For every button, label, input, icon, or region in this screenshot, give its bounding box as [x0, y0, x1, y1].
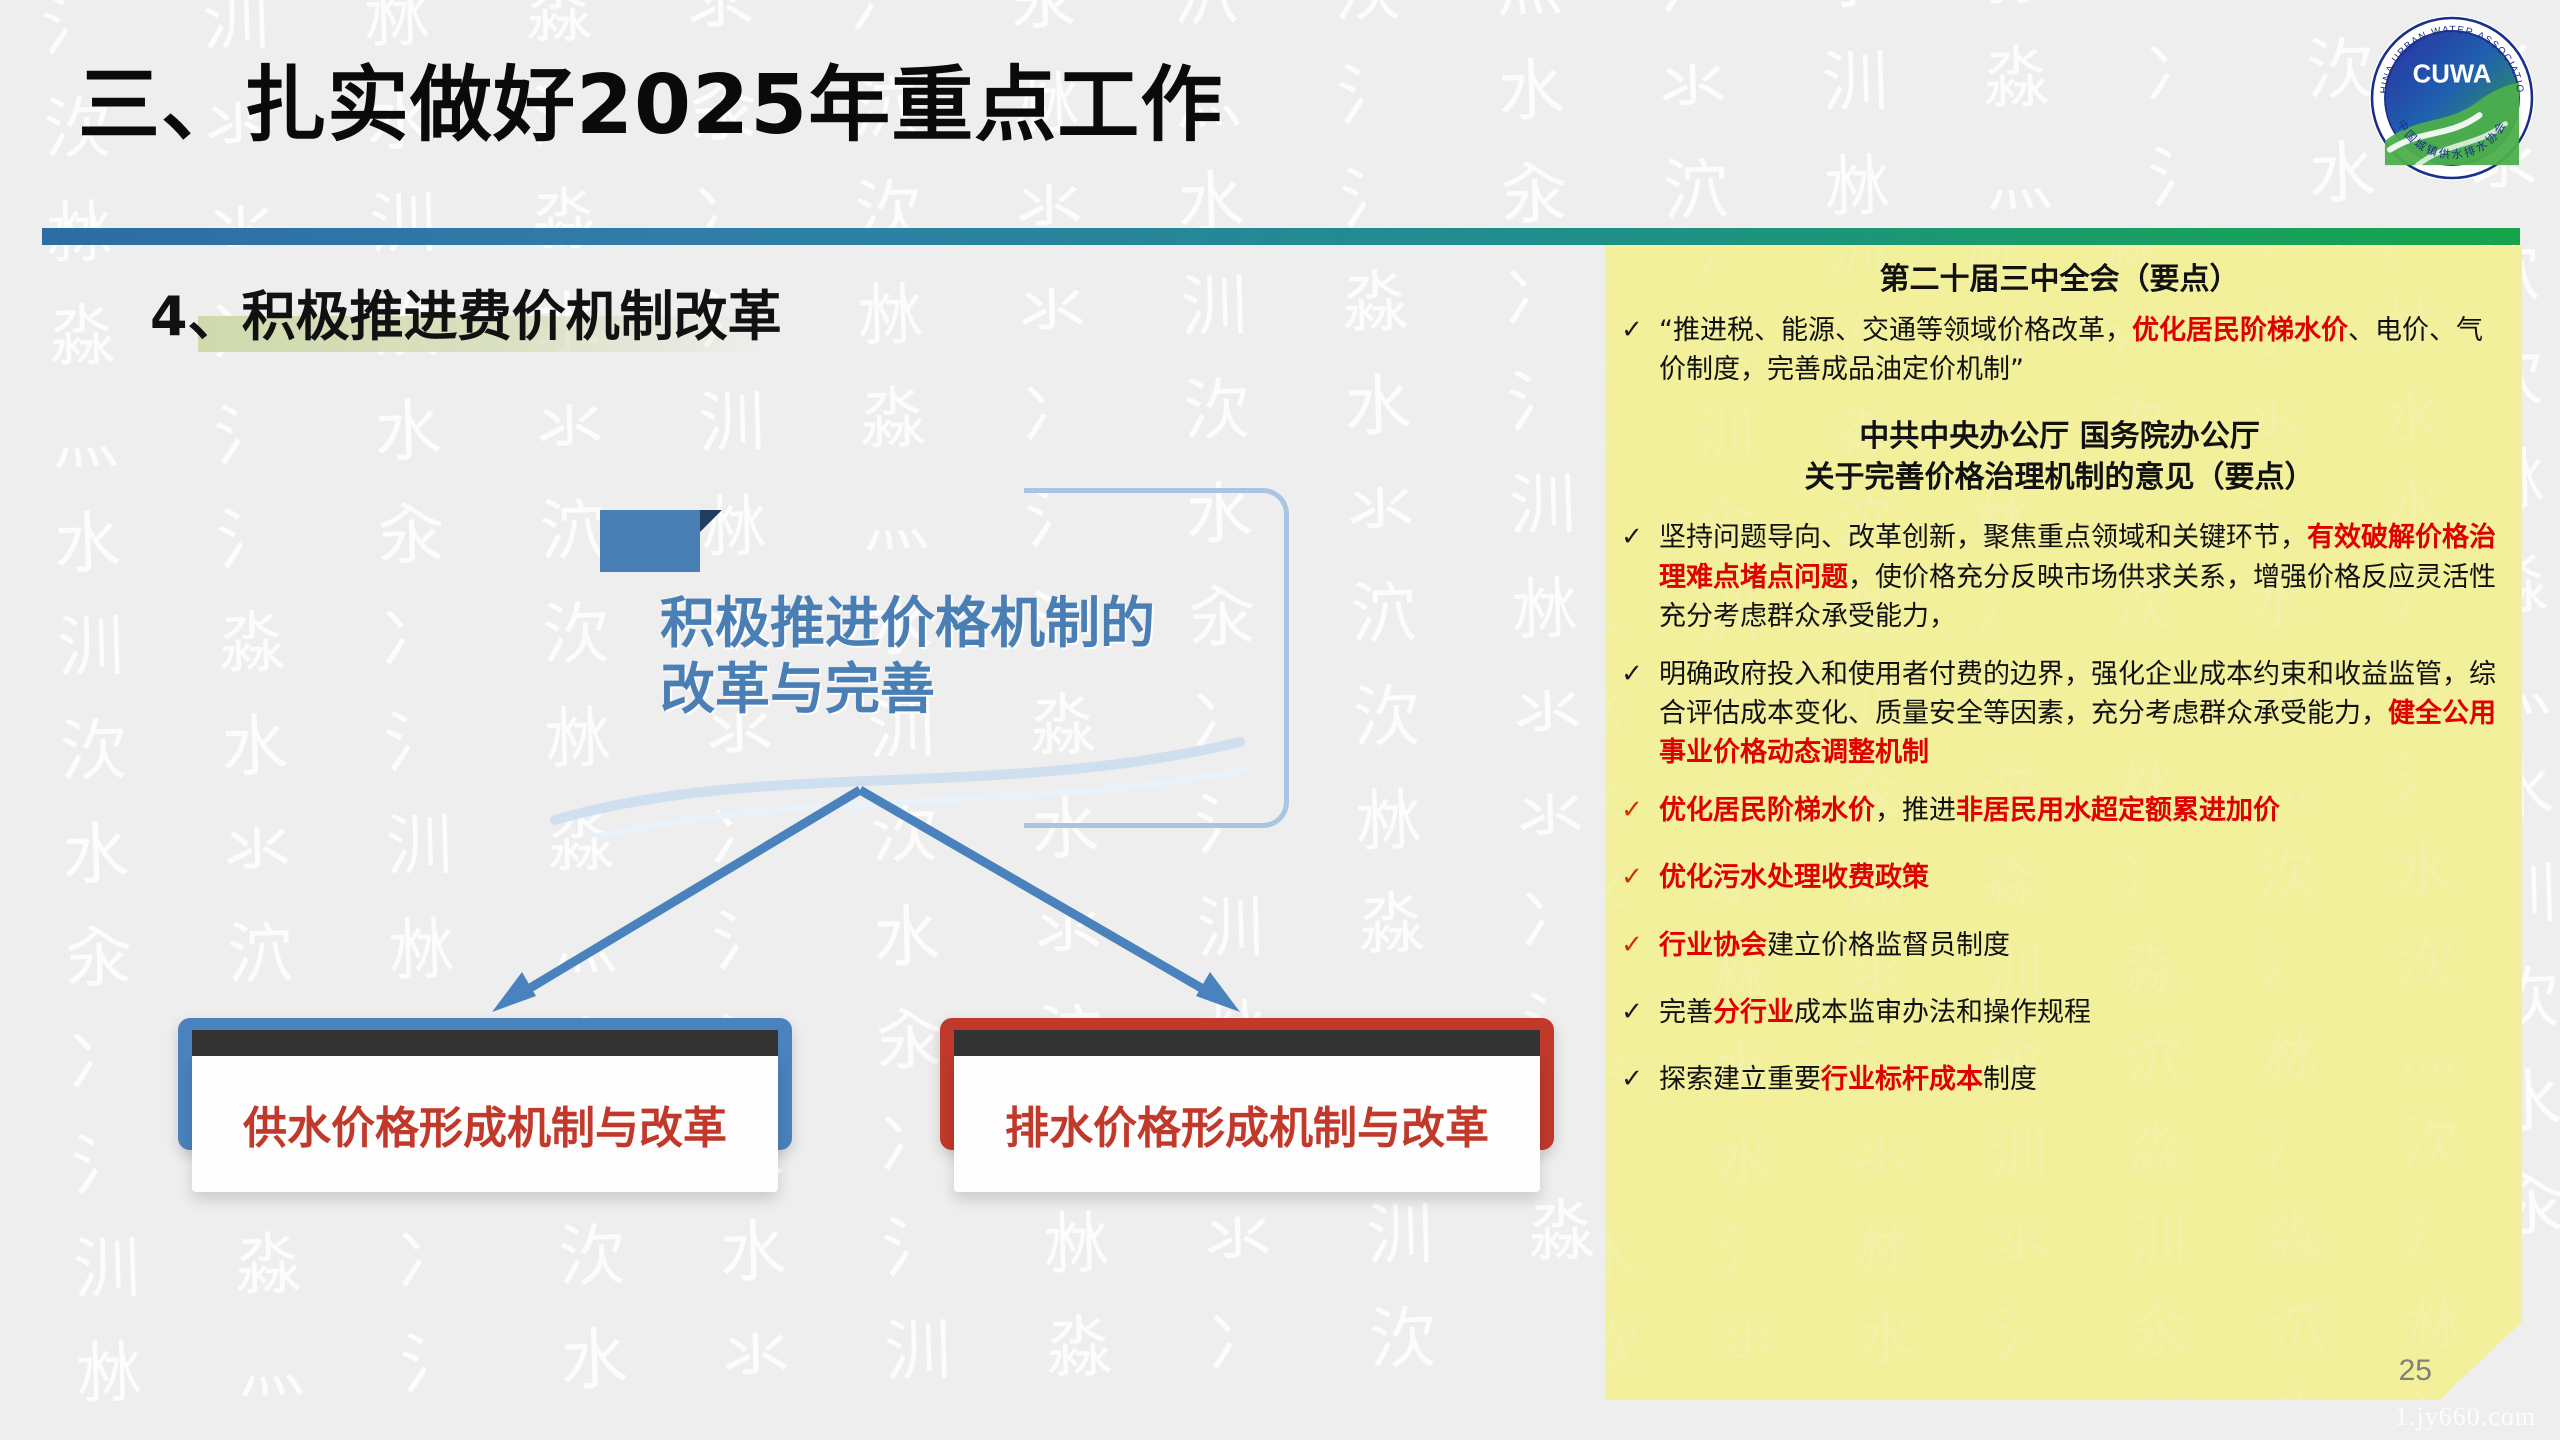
header-divider: [42, 228, 2520, 245]
check-icon: ✓: [1619, 926, 1645, 964]
site-watermark: 1.jy660.com: [2395, 1402, 2536, 1432]
section-subtitle: 4、积极推进费价机制改革: [150, 272, 782, 351]
panel-heading-1: 第二十届三中全会（要点）: [1619, 260, 2500, 301]
callout-tab-fold-icon: [700, 510, 722, 532]
panel-bullet: ✓ 优化居民阶梯水价，推进非居民用水超定额累进加价: [1619, 791, 2500, 830]
result-box-header-bar: [954, 1030, 1540, 1056]
result-box-body: 排水价格形成机制与改革: [954, 1056, 1540, 1192]
result-box-label: 供水价格形成机制与改革: [243, 1092, 727, 1156]
check-icon: ✓: [1619, 655, 1645, 693]
panel-heading-2-line2: 关于完善价格治理机制的意见（要点）: [1619, 458, 2500, 499]
result-box-body: 供水价格形成机制与改革: [192, 1056, 778, 1192]
result-box-header-bar: [192, 1030, 778, 1056]
page-title: 三、扎实做好2025年重点工作: [78, 38, 1223, 157]
svg-text:CUWA: CUWA: [2413, 61, 2492, 89]
slide-canvas: 水 氵 汌 沝 淼 氺 冫 汆 泬 㳄 灬 氵 水 沝 氺 汌 淼 冫 㳄 氺 …: [0, 0, 2560, 1440]
policy-panel-content: 第二十届三中全会（要点） ✓ “推进税、能源、交通等领域价格改革，优化居民阶梯水…: [1605, 246, 2522, 1100]
page-number: 25: [2399, 1354, 2432, 1388]
panel-bullet-text: 优化居民阶梯水价，推进非居民用水超定额累进加价: [1659, 791, 2280, 830]
panel-bullet-text: 明确政府投入和使用者付费的边界，强化企业成本约束和收益监管，综合评估成本变化、质…: [1659, 655, 2500, 773]
panel-bullet-text: 坚持问题导向、改革创新，聚焦重点领域和关键环节，有效破解价格治理难点堵点问题，使…: [1659, 518, 2500, 636]
panel-bullet: ✓ 完善分行业成本监审办法和操作规程: [1619, 993, 2500, 1032]
panel-bullet: ✓ 明确政府投入和使用者付费的边界，强化企业成本约束和收益监管，综合评估成本变化…: [1619, 655, 2500, 773]
panel-bullet-text: 优化污水处理收费政策: [1659, 858, 1929, 897]
callout-text: 积极推进价格机制的改革与完善: [660, 590, 1180, 722]
check-icon: ✓: [1619, 993, 1645, 1031]
result-box-label: 排水价格形成机制与改革: [1005, 1092, 1489, 1156]
check-icon: ✓: [1619, 791, 1645, 829]
check-icon: ✓: [1619, 518, 1645, 556]
panel-bullet: ✓ 探索建立重要行业标杆成本制度: [1619, 1060, 2500, 1099]
panel-bullet: ✓ 坚持问题导向、改革创新，聚焦重点领域和关键环节，有效破解价格治理难点堵点问题…: [1619, 518, 2500, 636]
policy-panel: 水 氵 汌 沝 淼 氺 冫 汆 泬 㳄 灬 氵 水 沝 氺 汌 淼 冫 㳄 氺 …: [1605, 246, 2522, 1400]
section-subtitle-wrap: 4、积极推进费价机制改革: [150, 272, 782, 351]
panel-bullet: ✓ 优化污水处理收费政策: [1619, 858, 2500, 897]
panel-bullet-text: 探索建立重要行业标杆成本制度: [1659, 1060, 2037, 1099]
check-icon: ✓: [1619, 858, 1645, 896]
panel-bullet: ✓ “推进税、能源、交通等领域价格改革，优化居民阶梯水价、电价、气价制度，完善成…: [1619, 311, 2500, 390]
panel-bullet-text: “推进税、能源、交通等领域价格改革，优化居民阶梯水价、电价、气价制度，完善成品油…: [1659, 311, 2500, 390]
check-icon: ✓: [1619, 311, 1645, 349]
result-box-supply[interactable]: 供水价格形成机制与改革: [178, 1018, 792, 1150]
panel-bullet-text: 完善分行业成本监审办法和操作规程: [1659, 993, 2091, 1032]
panel-bullet-text: 行业协会建立价格监督员制度: [1659, 926, 2010, 965]
panel-heading-2-line1: 中共中央办公厅 国务院办公厅: [1619, 417, 2500, 458]
panel-bullet: ✓ 行业协会建立价格监督员制度: [1619, 926, 2500, 965]
callout-shape: 积极推进价格机制的改革与完善: [600, 500, 1240, 820]
check-icon: ✓: [1619, 1060, 1645, 1098]
result-box-drainage[interactable]: 排水价格形成机制与改革: [940, 1018, 1554, 1150]
cuwa-logo: CUWA CHINA URBAN WATER ASSOCIATION 中国城镇供…: [2366, 12, 2538, 184]
callout-tab: [600, 510, 700, 572]
